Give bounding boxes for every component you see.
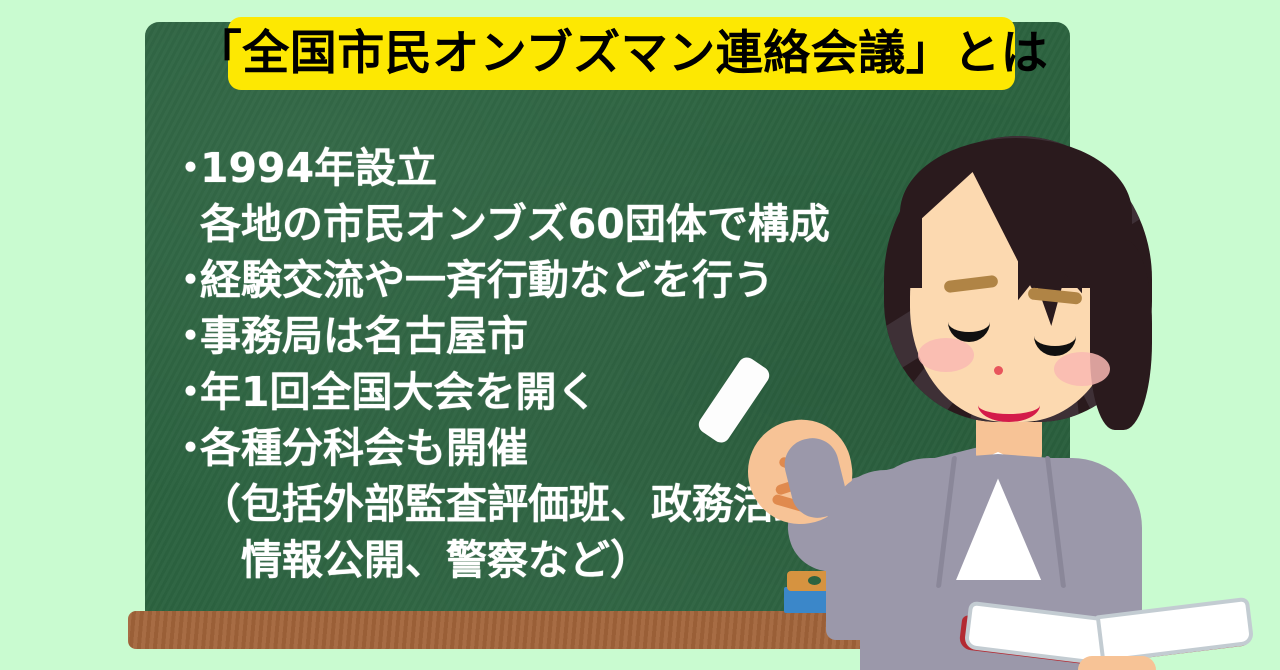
eye-right [1034, 316, 1076, 356]
list-item: ・ 各地の市民オンブズ60団体で構成 [170, 199, 930, 255]
list-item: ・ 1994年設立 [170, 143, 930, 199]
teacher-illustration [848, 120, 1280, 670]
title-banner: 「全国市民オンブズマン連絡会議」とは [228, 17, 1015, 90]
hair-side [1090, 240, 1152, 430]
hand-holding-book [1078, 656, 1156, 670]
list-item-label: 年1回全国大会を開く [200, 367, 598, 417]
list-item-label: 各地の市民オンブズ60団体で構成 [200, 199, 830, 249]
list-item-label: 経験交流や一斉行動などを行う [200, 255, 774, 305]
list-item-label: 事務局は名古屋市 [200, 311, 528, 361]
bullet-icon: ・ [170, 423, 200, 473]
eraser-hole-left [808, 576, 821, 585]
list-item-label: 各種分科会も開催 [200, 423, 528, 473]
eye-left [948, 302, 990, 342]
cheek-right [1054, 352, 1110, 386]
bullet-icon: ・ [170, 367, 200, 417]
nose [994, 366, 1003, 375]
bullet-icon: ・ [170, 255, 200, 305]
mouth [978, 388, 1040, 422]
open-book-icon [960, 590, 1250, 670]
bullet-icon: ・ [170, 311, 200, 361]
list-item-label: 情報公開、警察など） [200, 535, 651, 585]
list-item: ・ 経験交流や一斉行動などを行う [170, 255, 930, 311]
list-item: ・ 年1回全国大会を開く [170, 367, 930, 423]
slide-canvas: ・ 1994年設立 ・ 各地の市民オンブズ60団体で構成 ・ 経験交流や一斉行動… [0, 0, 1280, 670]
list-item-label: 1994年設立 [200, 143, 437, 193]
list-item: ・ 事務局は名古屋市 [170, 311, 930, 367]
book-page-right [1096, 597, 1255, 663]
bullet-icon: ・ [170, 143, 200, 193]
cheek-left [918, 338, 974, 372]
page-title: 「全国市民オンブズマン連絡会議」とは [195, 30, 1049, 77]
